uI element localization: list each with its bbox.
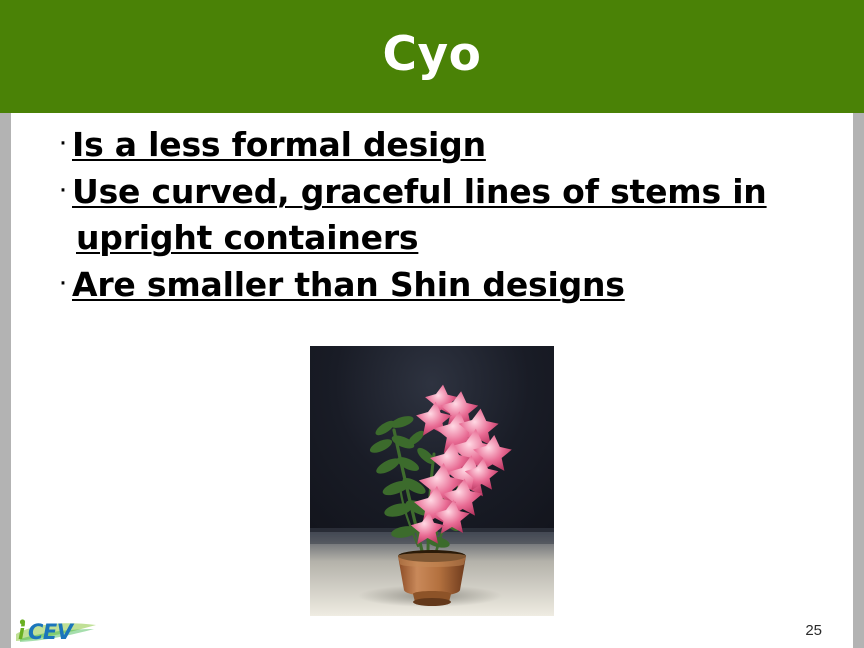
bullet-dot-icon: · (58, 166, 72, 212)
slide: Cyo · Is a less formal design · Use curv… (0, 0, 864, 648)
icev-logo-cev: CEV (28, 620, 75, 644)
list-item: · Use curved, graceful lines of stems in… (58, 169, 798, 261)
list-item: · Is a less formal design (58, 122, 798, 168)
bullet-dot-icon: · (58, 119, 72, 165)
icev-logo-i: i (18, 620, 26, 644)
list-item-line-2: upright containers (72, 215, 767, 261)
list-item-label: Is a less formal design (72, 122, 486, 168)
icev-logo: i CEV (14, 617, 98, 645)
orchid-photo-image (310, 346, 554, 616)
page-number: 25 (805, 622, 822, 639)
list-item-label: Use curved, graceful lines of stems in u… (72, 169, 767, 261)
slide-header-band: Cyo (0, 0, 864, 113)
orchid-photo (310, 346, 554, 616)
bullet-dot-icon: · (58, 259, 72, 305)
bullet-list: · Is a less formal design · Use curved, … (58, 122, 798, 309)
right-side-strip (853, 113, 864, 648)
list-item-line-1: Use curved, graceful lines of stems in (72, 172, 767, 211)
page-title: Cyo (383, 31, 482, 78)
list-item: · Are smaller than Shin designs (58, 262, 798, 308)
slide-body: · Is a less formal design · Use curved, … (11, 113, 853, 648)
list-item-label: Are smaller than Shin designs (72, 262, 625, 308)
left-side-strip (0, 113, 11, 648)
